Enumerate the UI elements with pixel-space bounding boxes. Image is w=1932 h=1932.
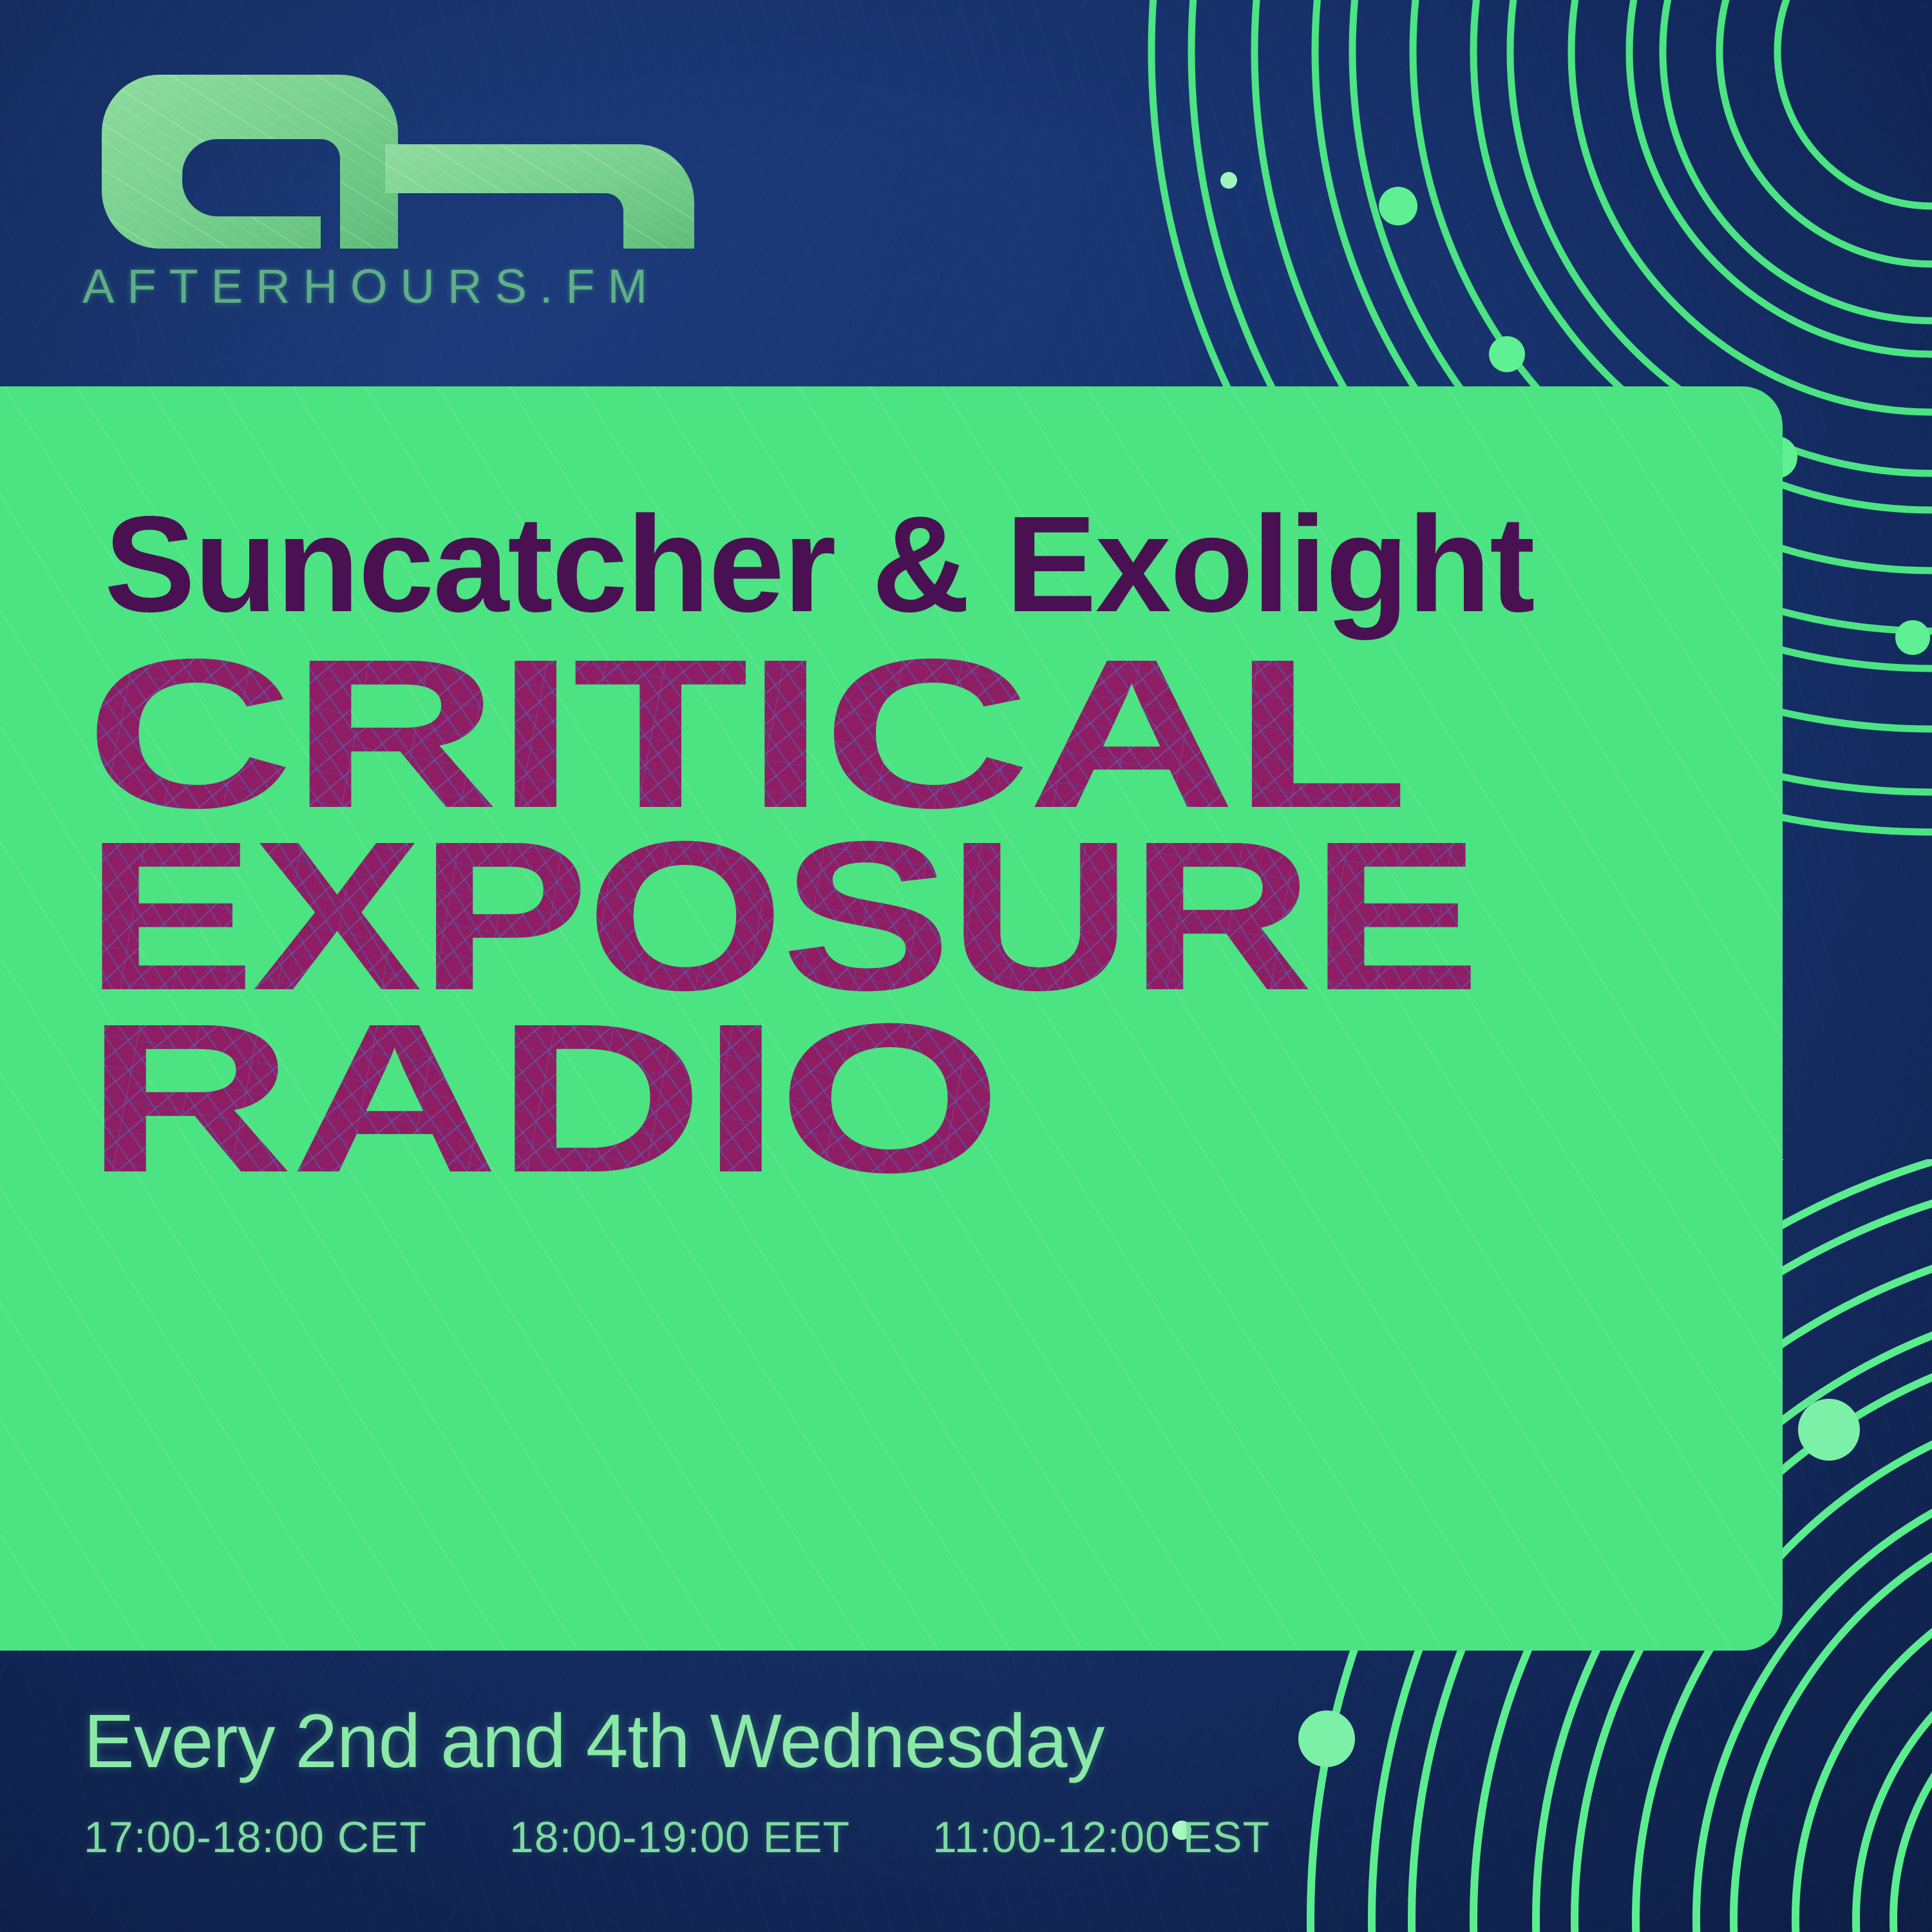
show-title-line-2-text: EXPOSURE: [85, 826, 1477, 1005]
headline-stack: Suncatcher & Exolight CRITICAL EXPOSURE …: [85, 496, 1734, 1188]
timezone-cet: 17:00-18:00 CET: [84, 1812, 427, 1862]
show-title-line-3: RADIO: [85, 1009, 1783, 1187]
footer-block: Every 2nd and 4th Wednesday 17:00-18:00 …: [84, 1698, 1629, 1862]
ah-monogram-logo-icon: [82, 62, 733, 255]
show-title-line-1: CRITICAL: [85, 644, 1783, 822]
show-title-line-3-text: RADIO: [85, 1009, 999, 1187]
brand-wordmark: AFTERHOURS.FM: [82, 259, 765, 314]
timezone-list: 17:00-18:00 CET 18:00-19:00 EET 11:00-12…: [84, 1812, 1629, 1862]
schedule-text: Every 2nd and 4th Wednesday: [84, 1698, 1629, 1785]
timezone-eet: 18:00-19:00 EET: [509, 1812, 850, 1862]
brand-logo: AFTERHOURS.FM: [82, 62, 765, 314]
show-hosts: Suncatcher & Exolight: [104, 496, 1734, 632]
poster-canvas: AFTERHOURS.FM Suncatcher & Exolight CRIT…: [0, 0, 1932, 1932]
headline-panel: Suncatcher & Exolight CRITICAL EXPOSURE …: [0, 386, 1783, 1651]
timezone-est: 11:00-12:00 EST: [933, 1812, 1270, 1862]
show-title-line-2: EXPOSURE: [85, 826, 1783, 1005]
show-title-line-1-text: CRITICAL: [85, 644, 1406, 822]
